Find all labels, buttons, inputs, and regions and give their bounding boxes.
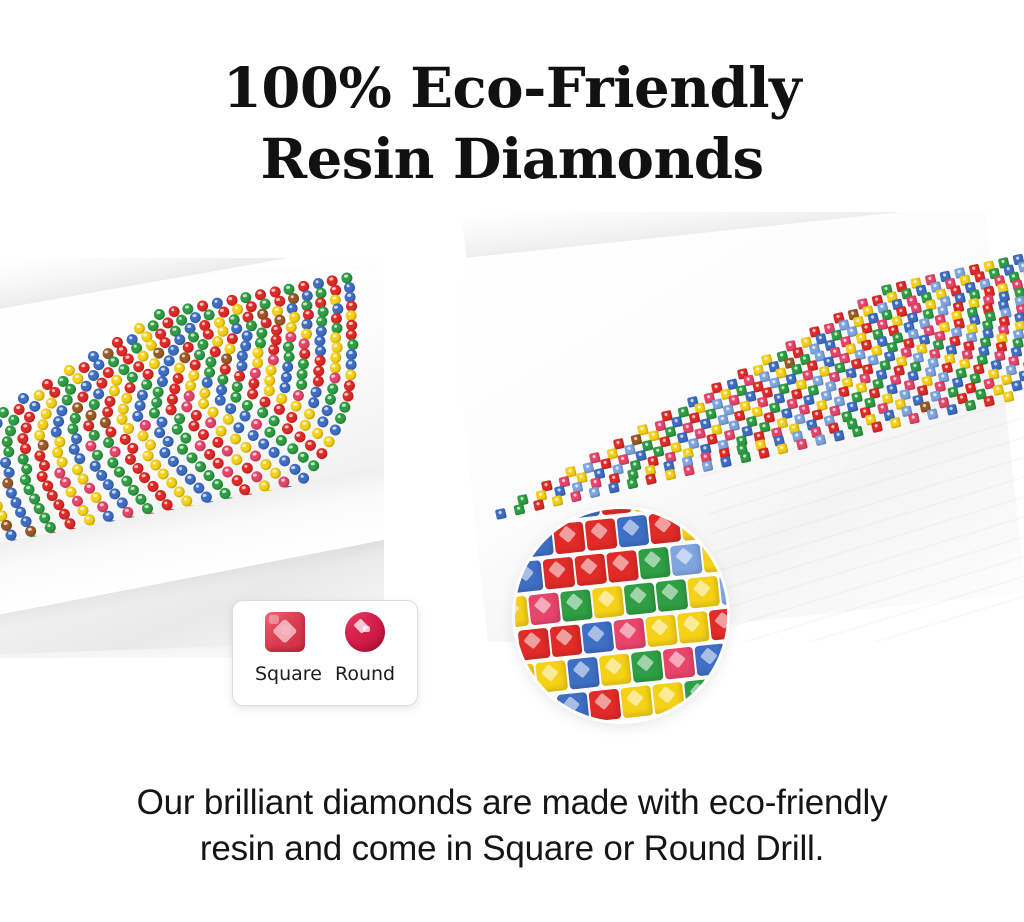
legend-label-round: Round [335, 663, 395, 685]
magnified-drill-bead [560, 589, 593, 622]
magnified-drill-bead [620, 685, 653, 718]
magnified-drill-bead [588, 689, 621, 721]
magnified-drill-bead [567, 657, 600, 690]
magnified-drill-bead [652, 682, 685, 715]
square-gem-icon [265, 612, 305, 652]
page-title: 100% Eco-Friendly Resin Diamonds [0, 56, 1024, 192]
magnified-drill-bead [585, 518, 618, 551]
round-gem-wrap [342, 612, 388, 652]
magnifier-content [515, 509, 727, 721]
magnified-drill-bead [670, 714, 703, 721]
legend-label-square: Square [255, 663, 315, 685]
legend-labels: Square Round [233, 663, 417, 685]
legend-gems [233, 612, 417, 652]
magnified-drill-bead [624, 582, 657, 615]
magnified-drill-bead [616, 515, 649, 548]
magnified-drill-bead [550, 624, 583, 657]
magnified-drill-bead [662, 647, 695, 680]
magnified-drill-bead [574, 553, 607, 586]
magnified-drill-bead [655, 579, 688, 612]
drill-shape-legend: Square Round [232, 600, 418, 706]
magnified-drill-bead [542, 557, 575, 590]
tray-of-round-drills [0, 258, 384, 658]
magnified-drill-bead [716, 675, 727, 708]
magnified-drill-bead [535, 660, 568, 693]
magnified-drill-bead [515, 509, 536, 525]
magnified-drill-bead [515, 596, 529, 629]
headline-line-1: 100% Eco-Friendly [0, 56, 1024, 121]
magnified-drill-bead [719, 572, 727, 605]
magnified-drill-bead [709, 608, 727, 641]
magnified-drill-bead [684, 679, 717, 712]
magnified-drill-bead [515, 663, 536, 696]
magnified-drill-bead [567, 509, 600, 519]
magnified-drill-bead [521, 525, 554, 558]
magnified-drill-bead [592, 586, 625, 619]
magnified-drill-bead [553, 521, 586, 554]
caption-line-1: Our brilliant diamonds are made with eco… [0, 780, 1024, 826]
magnified-drill-bead [613, 618, 646, 651]
magnified-drill-bead [645, 614, 678, 647]
magnified-drill-bead [525, 695, 558, 721]
magnified-drill-bead [535, 509, 568, 522]
magnified-drill-bead [557, 692, 590, 721]
headline-line-2: Resin Diamonds [0, 127, 1024, 192]
magnified-drill-bead [687, 576, 720, 609]
magnified-drill-bead [518, 628, 551, 661]
magnified-drill-bead [606, 550, 639, 583]
magnified-drill-bead [631, 650, 664, 683]
magnified-drill-bead [528, 592, 561, 625]
caption-line-2: resin and come in Square or Round Drill. [0, 826, 1024, 872]
magnified-square-drills [515, 509, 727, 721]
magnified-drill-bead [631, 509, 664, 512]
square-gem-wrap [262, 612, 308, 652]
product-marketing-image: 100% Eco-Friendly Resin Diamonds Square [0, 0, 1024, 922]
caption: Our brilliant diamonds are made with eco… [0, 780, 1024, 872]
magnified-drill-bead [599, 653, 632, 686]
magnified-drill-bead [515, 560, 544, 593]
round-gem-icon [345, 612, 385, 652]
magnified-drill-bead [702, 540, 727, 573]
magnified-drill-bead [648, 511, 681, 544]
magnified-drill-bead [680, 509, 713, 541]
magnified-drill-bead [599, 509, 632, 515]
magnified-drill-bead [638, 547, 671, 580]
magnified-drill-bead [581, 621, 614, 654]
magnified-drill-bead [638, 718, 671, 721]
magnified-drill-bead [677, 611, 710, 644]
magnified-drill-bead [694, 643, 727, 676]
magnified-drill-bead [670, 543, 703, 576]
